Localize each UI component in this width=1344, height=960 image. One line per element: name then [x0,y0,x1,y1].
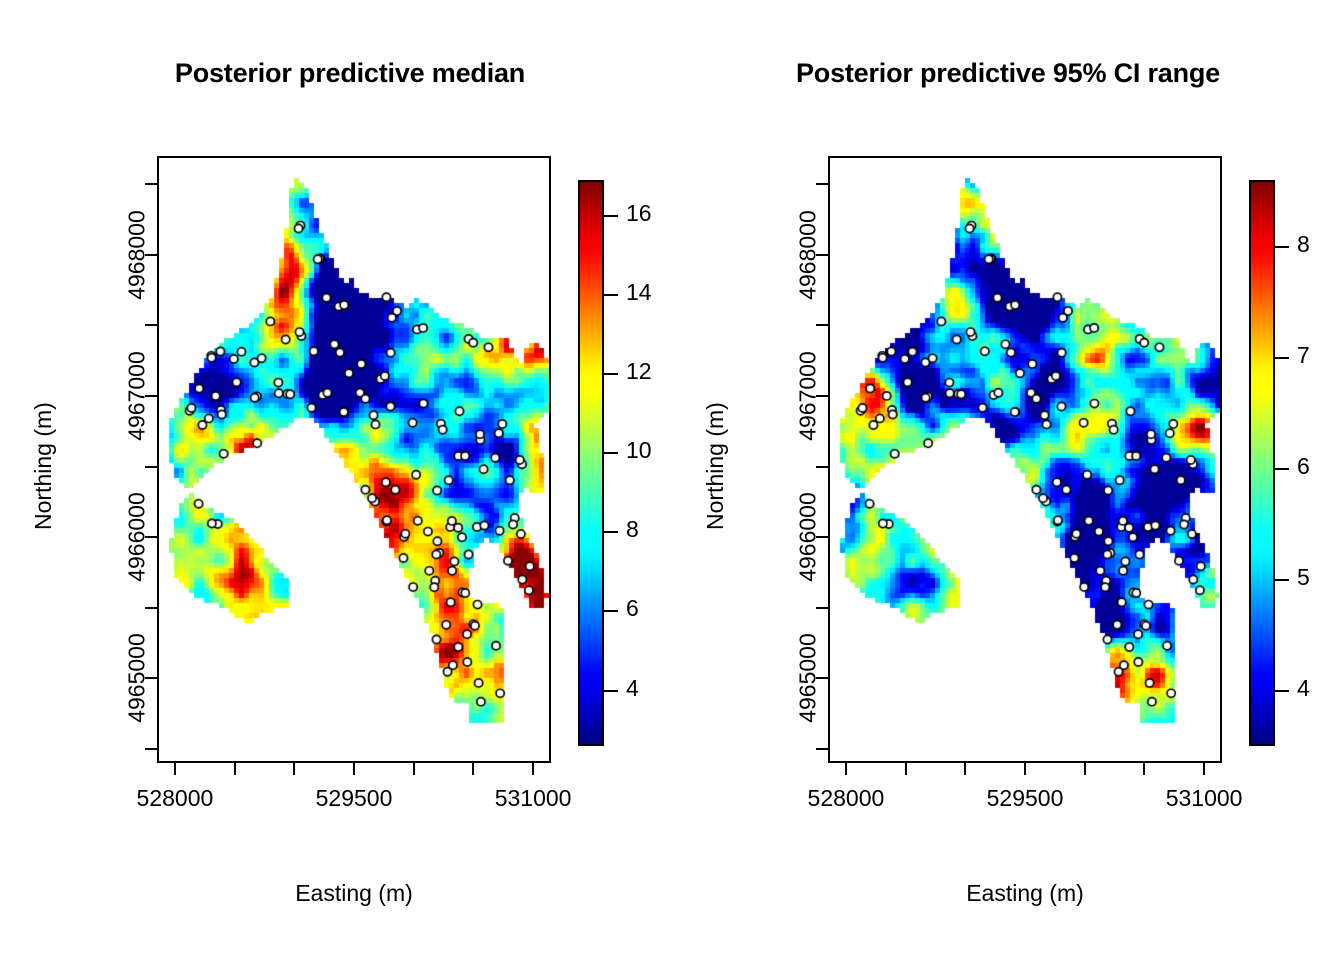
colorbar-tick-mark [1275,690,1289,692]
y-tick-label: 4965000 [124,634,151,724]
x-tick-mark [845,763,847,775]
colorbar-tick-mark [604,373,618,375]
raster-map-ci-range[interactable] [830,158,1220,761]
colorbar-tick-mark [604,531,618,533]
y-tick-label: 4966000 [795,492,822,582]
x-tick-mark [472,763,474,775]
colorbar-tick-label: 6 [1297,453,1310,480]
x-tick-mark [413,763,415,775]
x-tick-mark [1084,763,1086,775]
y-axis-label-median: Northing (m) [30,402,57,530]
colorbar-tick-mark [1275,468,1289,470]
y-tick-mark [145,183,157,185]
y-tick-label: 4967000 [795,351,822,441]
colorbar-tick-mark [1275,246,1289,248]
x-tick-label: 531000 [1124,785,1284,812]
y-tick-mark [816,324,828,326]
colorbar-tick-label: 4 [626,675,639,702]
plot-box-median [157,156,551,763]
x-tick-mark [234,763,236,775]
x-tick-mark [353,763,355,775]
y-tick-mark [145,607,157,609]
panel-posterior-ci-range: Posterior predictive 95% CI range Northi… [672,0,1344,960]
colorbar-tick-label: 8 [1297,231,1310,258]
x-tick-mark [905,763,907,775]
y-tick-mark [816,607,828,609]
y-axis-label-ci-range: Northing (m) [702,402,729,530]
y-tick-label: 4965000 [795,634,822,724]
x-axis-label-ci-range: Easting (m) [828,880,1222,907]
panel-title-ci-range: Posterior predictive 95% CI range [672,58,1344,89]
y-tick-mark [816,748,828,750]
colorbar-tick-mark [604,610,618,612]
x-tick-label: 528000 [766,785,926,812]
y-tick-mark [816,466,828,468]
y-tick-mark [816,183,828,185]
plot-box-ci-range [828,156,1222,763]
colorbar-tick-label: 16 [626,200,652,227]
y-tick-mark [145,324,157,326]
colorbar-tick-label: 7 [1297,342,1310,369]
colorbar-tick-mark [1275,357,1289,359]
colorbar-tick-mark [604,215,618,217]
panel-posterior-median: Posterior predictive median Northing (m)… [0,0,700,960]
x-axis-label-median: Easting (m) [157,880,551,907]
x-tick-label: 529500 [945,785,1105,812]
colorbar-tick-label: 10 [626,437,652,464]
y-tick-label: 4967000 [124,351,151,441]
colorbar-tick-label: 4 [1297,675,1310,702]
colorbar-tick-mark [604,452,618,454]
colorbar-tick-label: 6 [626,595,639,622]
colorbar-tick-mark [604,690,618,692]
x-tick-mark [1143,763,1145,775]
colorbar-tick-label: 5 [1297,564,1310,591]
colorbar-ci-range [1249,180,1275,746]
colorbar-tick-label: 14 [626,279,652,306]
x-tick-mark [174,763,176,775]
x-tick-mark [293,763,295,775]
y-tick-label: 4968000 [795,210,822,300]
x-tick-mark [1024,763,1026,775]
colorbar-tick-label: 8 [626,516,639,543]
y-tick-mark [145,466,157,468]
x-tick-label: 528000 [95,785,255,812]
x-tick-mark [1203,763,1205,775]
colorbar-tick-mark [604,294,618,296]
raster-map-median[interactable] [159,158,549,761]
y-tick-mark [145,748,157,750]
panel-title-median: Posterior predictive median [0,58,700,89]
colorbar-median [578,180,604,746]
colorbar-tick-mark [1275,579,1289,581]
y-tick-label: 4968000 [124,210,151,300]
x-tick-label: 531000 [453,785,613,812]
colorbar-tick-label: 12 [626,358,652,385]
y-tick-label: 4966000 [124,492,151,582]
x-tick-mark [964,763,966,775]
x-tick-mark [532,763,534,775]
x-tick-label: 529500 [274,785,434,812]
